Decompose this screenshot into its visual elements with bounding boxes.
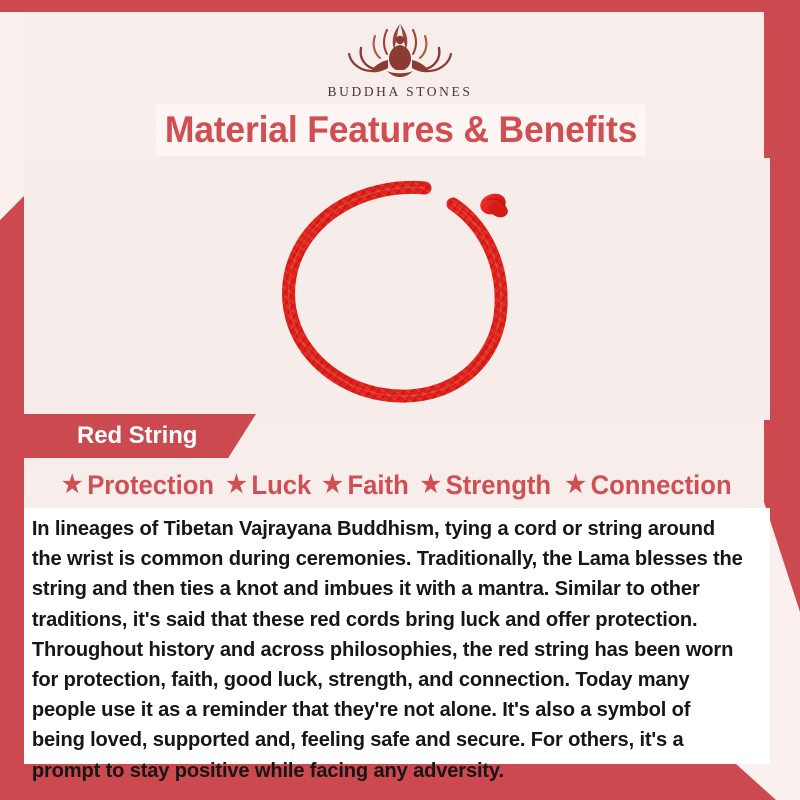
- star-icon: ★: [227, 473, 247, 497]
- brand-name: BUDDHA STONES: [0, 84, 800, 100]
- product-name-ribbon: Red String: [24, 414, 256, 458]
- benefit-item: ★ Strength: [420, 470, 551, 501]
- star-icon: ★: [565, 473, 585, 497]
- infographic-poster: BUDDHA STONES Material Features & Benefi…: [0, 0, 800, 800]
- description-text: In lineages of Tibetan Vajrayana Buddhis…: [24, 508, 759, 786]
- benefit-item: ★ Luck: [227, 470, 312, 501]
- frame-left-strip: [0, 196, 24, 800]
- benefit-item: ★ Faith: [322, 470, 408, 501]
- frame-top-bar: [0, 0, 800, 12]
- product-name-label: Red String: [77, 422, 197, 450]
- benefit-label: Protection: [88, 470, 215, 501]
- red-string-bracelet-image: [247, 166, 547, 414]
- benefit-label: Faith: [347, 470, 408, 501]
- benefit-label: Connection: [590, 470, 731, 501]
- benefit-item: ★ Connection: [565, 470, 731, 501]
- title-band: Material Features & Benefits: [156, 104, 646, 156]
- star-icon: ★: [420, 473, 440, 497]
- description-panel: In lineages of Tibetan Vajrayana Buddhis…: [24, 508, 770, 764]
- product-photo: [24, 158, 770, 420]
- lotus-meditation-icon: [325, 16, 475, 82]
- bracelet-knot: [478, 190, 510, 219]
- brand-logo: BUDDHA STONES: [0, 16, 800, 100]
- benefit-label: Strength: [446, 470, 551, 501]
- page-title: Material Features & Benefits: [165, 109, 637, 151]
- benefit-label: Luck: [252, 470, 312, 501]
- star-icon: ★: [62, 473, 82, 497]
- star-icon: ★: [322, 473, 342, 497]
- benefits-row: ★ Protection ★ Luck ★ Faith ★ Strength ★…: [24, 464, 770, 506]
- benefit-item: ★ Protection: [62, 470, 214, 501]
